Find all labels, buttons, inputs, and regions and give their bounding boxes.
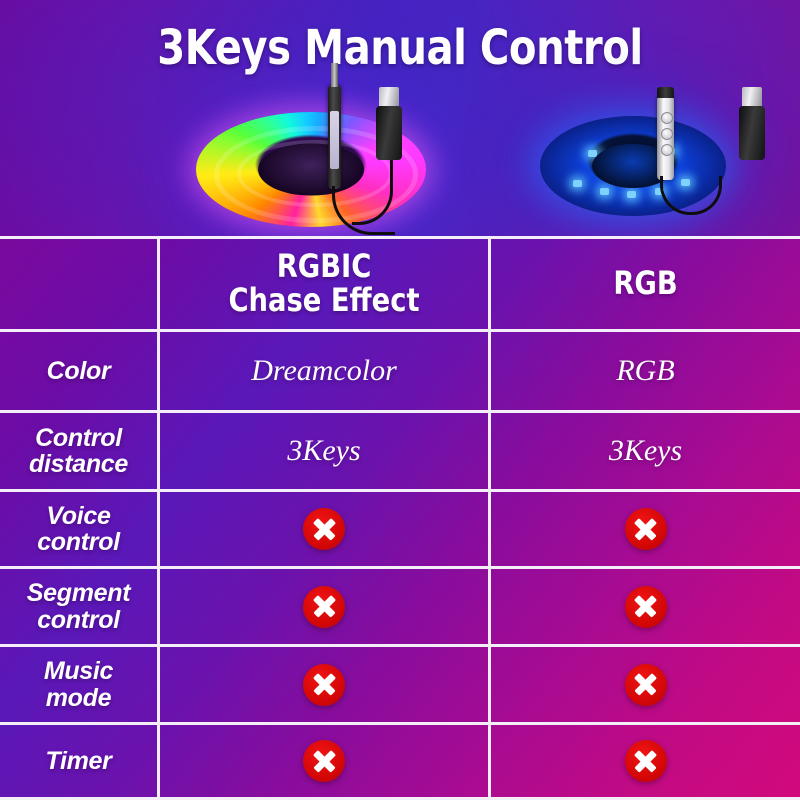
cross-circle-icon <box>625 508 667 550</box>
infographic-page: 3Keys Manual Control <box>0 0 800 800</box>
led-dot <box>600 188 609 195</box>
cross-circle-icon <box>625 664 667 706</box>
comparison-table: RGBIC Chase Effect RGB Color Dreamcolor … <box>0 236 800 800</box>
led-dot <box>588 150 597 157</box>
page-title: 3Keys Manual Control <box>28 20 772 76</box>
header-rgbic-line1: RGBIC <box>277 250 372 284</box>
cell-value: Dreamcolor <box>251 355 397 387</box>
row-label-line1: Control <box>35 425 122 452</box>
row-label-line2: control <box>37 529 120 556</box>
controller-pin <box>331 63 338 87</box>
row-label-line1: Music <box>44 658 113 685</box>
cell-value: 3Keys <box>609 435 682 467</box>
cell-value: 3Keys <box>287 435 360 467</box>
row-label-timer: Timer <box>0 725 157 797</box>
cell-value: RGB <box>616 355 674 387</box>
row-label-line2: mode <box>46 685 111 712</box>
row-label-music-mode: Music mode <box>0 647 157 722</box>
controller-label <box>330 111 339 169</box>
cell-voice-control-rgb <box>491 492 800 566</box>
controller-button <box>661 112 673 124</box>
column-header-rgb: RGB <box>499 239 793 329</box>
cell-voice-control-rgbic <box>160 492 488 566</box>
usb-body <box>739 106 765 160</box>
rgb-controller-icon <box>657 96 674 180</box>
header-rgbic-line2: Chase Effect <box>228 284 419 318</box>
cell-color-rgbic: Dreamcolor <box>160 332 488 410</box>
row-label-line2: distance <box>29 451 128 478</box>
cross-circle-icon <box>303 586 345 628</box>
cell-music-mode-rgbic <box>160 647 488 722</box>
cross-circle-icon <box>303 740 345 782</box>
cell-music-mode-rgb <box>491 647 800 722</box>
cell-segment-control-rgb <box>491 569 800 644</box>
row-label-line1: Voice <box>46 503 110 530</box>
cross-circle-icon <box>625 740 667 782</box>
cell-segment-control-rgbic <box>160 569 488 644</box>
cell-control-distance-rgbic: 3Keys <box>160 413 488 489</box>
hero-banner: 3Keys Manual Control <box>0 0 800 236</box>
cross-circle-icon <box>625 586 667 628</box>
cross-circle-icon <box>303 508 345 550</box>
cell-timer-rgbic <box>160 725 488 797</box>
row-label-color: Color <box>0 332 157 410</box>
row-label-voice-control: Voice control <box>0 492 157 566</box>
controller-button <box>661 128 673 140</box>
header-rgb-label: RGB <box>613 267 677 301</box>
cell-timer-rgb <box>491 725 800 797</box>
column-header-rgbic: RGBIC Chase Effect <box>168 239 480 329</box>
row-label-line1: Timer <box>45 748 111 775</box>
row-label-line1: Segment <box>27 580 130 607</box>
row-label-line2: control <box>37 607 120 634</box>
led-dot <box>573 180 582 187</box>
cell-control-distance-rgb: 3Keys <box>491 413 800 489</box>
cross-circle-icon <box>303 664 345 706</box>
row-label-control-distance: Control distance <box>0 413 157 489</box>
cell-color-rgb: RGB <box>491 332 800 410</box>
row-label-line1: Color <box>47 358 111 385</box>
controller-cap <box>657 87 674 98</box>
rgbic-controller-icon <box>328 85 341 189</box>
controller-button <box>661 144 673 156</box>
row-label-segment-control: Segment control <box>0 569 157 644</box>
usb-body <box>376 106 402 160</box>
led-dot <box>627 191 636 198</box>
